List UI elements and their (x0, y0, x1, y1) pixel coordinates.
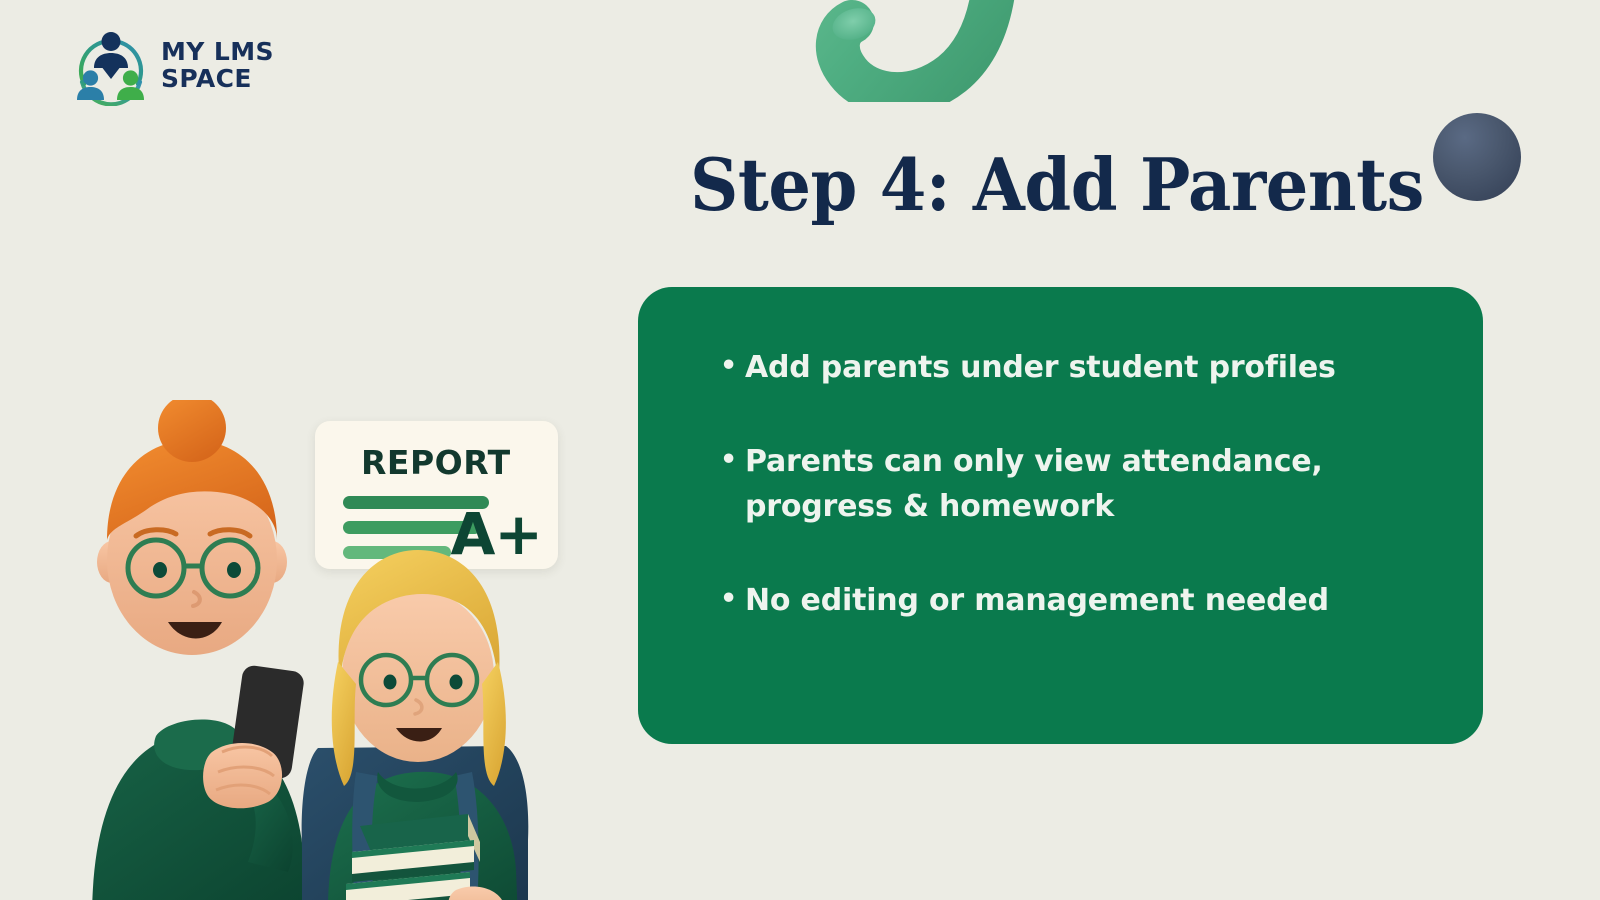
green-hook-shape-icon (806, 0, 1018, 102)
logo-line-1: MY LMS (161, 39, 274, 66)
list-item: • Add parents under student profiles (720, 345, 1449, 391)
teacher-character (92, 400, 310, 900)
bullet-dot-icon: • (720, 439, 745, 480)
bullet-text: Parents can only view attendance, progre… (745, 439, 1449, 530)
slate-sphere-shape (1433, 113, 1521, 201)
three-people-logo-icon (72, 26, 150, 106)
logo-line-2: SPACE (161, 66, 274, 93)
bullet-dot-icon: • (720, 345, 745, 386)
characters-illustration (60, 400, 580, 900)
logo-wordmark: MY LMS SPACE (161, 39, 274, 93)
bullet-card: • Add parents under student profiles • P… (638, 287, 1483, 744)
brand-logo[interactable]: MY LMS SPACE (72, 26, 274, 106)
bullet-dot-icon: • (720, 578, 745, 619)
student-character (302, 550, 529, 900)
bullet-text: Add parents under student profiles (745, 345, 1449, 391)
slide-canvas: MY LMS SPACE Step 4: Add Parents • (0, 0, 1600, 900)
bullet-text: No editing or management needed (745, 578, 1449, 624)
bullet-list: • Add parents under student profiles • P… (720, 345, 1449, 623)
list-item: • Parents can only view attendance, prog… (720, 439, 1449, 530)
stack-of-books (346, 814, 480, 900)
page-title: Step 4: Add Parents (690, 148, 1360, 221)
list-item: • No editing or management needed (720, 578, 1449, 624)
